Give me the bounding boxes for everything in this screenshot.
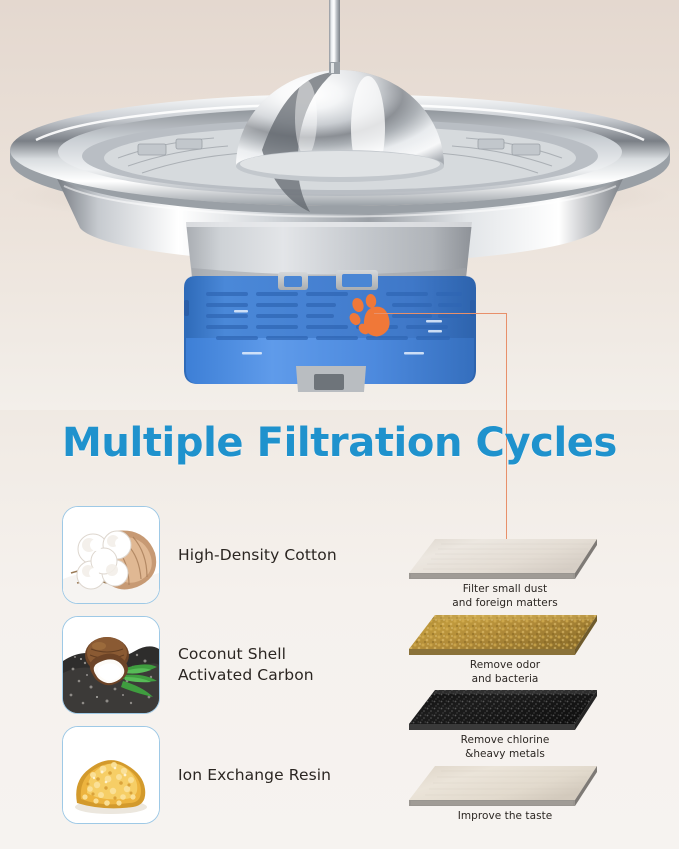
cotton-thumbnail: [62, 506, 160, 604]
fountain-illustration: [0, 0, 679, 410]
filter-layer-stack: Filter small dust and foreign matters: [405, 535, 615, 824]
filter-layer-carbon: Remove chlorine &heavy metals: [405, 686, 615, 762]
ion-exchange-resin-icon: [63, 727, 159, 823]
layer-caption-cotton-bottom: Improve the taste: [405, 810, 605, 824]
product-hero-image: [0, 0, 679, 410]
slab-cotton-top: [405, 535, 605, 587]
slab-resin: [405, 611, 605, 663]
slab-cotton-bottom: [405, 762, 605, 814]
filter-layer-cotton-bottom: Improve the taste: [405, 762, 615, 824]
filter-cartridge: [184, 270, 476, 392]
feature-item-cotton: High-Density Cotton: [62, 505, 412, 605]
layer-caption-carbon: Remove chlorine &heavy metals: [405, 734, 605, 762]
product-infographic: Multiple Filtration Cycles: [0, 0, 679, 849]
coconut-activated-carbon-icon: [63, 617, 159, 713]
slab-carbon: [405, 686, 605, 738]
page-title: Multiple Filtration Cycles: [0, 420, 679, 466]
filter-layer-resin: Remove odor and bacteria: [405, 611, 615, 687]
resin-thumbnail: [62, 726, 160, 824]
feature-label-cotton: High-Density Cotton: [178, 545, 337, 566]
feature-label-coconut-carbon: Coconut Shell Activated Carbon: [178, 644, 314, 686]
layer-caption-cotton-top: Filter small dust and foreign matters: [405, 583, 605, 611]
cartridge-bottom-tab: [296, 366, 366, 392]
pump-body: [186, 222, 472, 285]
cartridge-notch-left: [184, 300, 189, 316]
coconut-carbon-thumbnail: [62, 616, 160, 714]
feature-label-resin: Ion Exchange Resin: [178, 765, 331, 786]
layer-caption-resin: Remove odor and bacteria: [405, 659, 605, 687]
feature-item-coconut-carbon: Coconut Shell Activated Carbon: [62, 615, 412, 715]
leader-line-horizontal: [374, 313, 507, 314]
cotton-bolls-icon: [63, 507, 159, 603]
feature-item-resin: Ion Exchange Resin: [62, 725, 412, 825]
material-feature-list: High-Density Cotton: [62, 505, 412, 835]
filter-layer-cotton-top: Filter small dust and foreign matters: [405, 535, 615, 611]
